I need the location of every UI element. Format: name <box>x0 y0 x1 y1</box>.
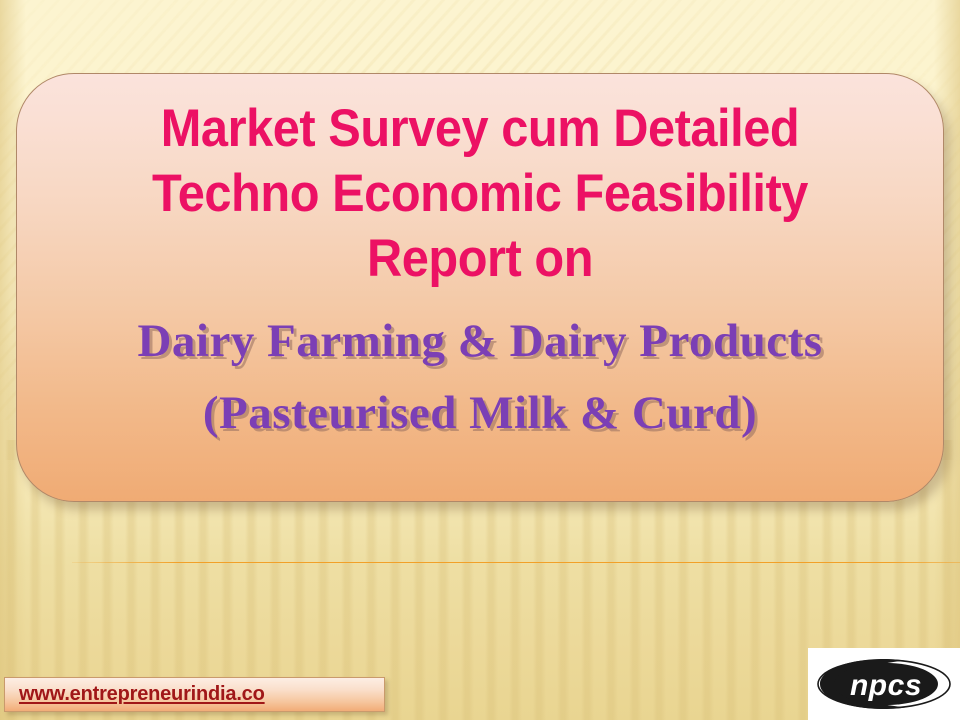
horizontal-divider-line <box>72 562 960 563</box>
website-url-link[interactable]: www.entrepreneurindia.co <box>19 683 265 706</box>
svg-text:npcs: npcs <box>850 669 922 702</box>
title-panel: Market Survey cum Detailed Techno Econom… <box>16 73 944 502</box>
report-title-line-2: Techno Economic Feasibility <box>54 161 906 226</box>
report-title-line-1: Market Survey cum Detailed <box>54 96 906 161</box>
npcs-logo-icon: npcs <box>814 654 954 714</box>
report-subtitle-line-2: (Pasteurised Milk & Curd) <box>17 377 943 449</box>
report-subtitle-line-1: Dairy Farming & Dairy Products <box>17 305 943 377</box>
slide-canvas: Market Survey cum Detailed Techno Econom… <box>0 0 960 720</box>
report-title-line-3: Report on <box>54 226 906 291</box>
website-url-banner[interactable]: www.entrepreneurindia.co <box>4 677 385 712</box>
npcs-logo-container: npcs <box>808 648 960 720</box>
